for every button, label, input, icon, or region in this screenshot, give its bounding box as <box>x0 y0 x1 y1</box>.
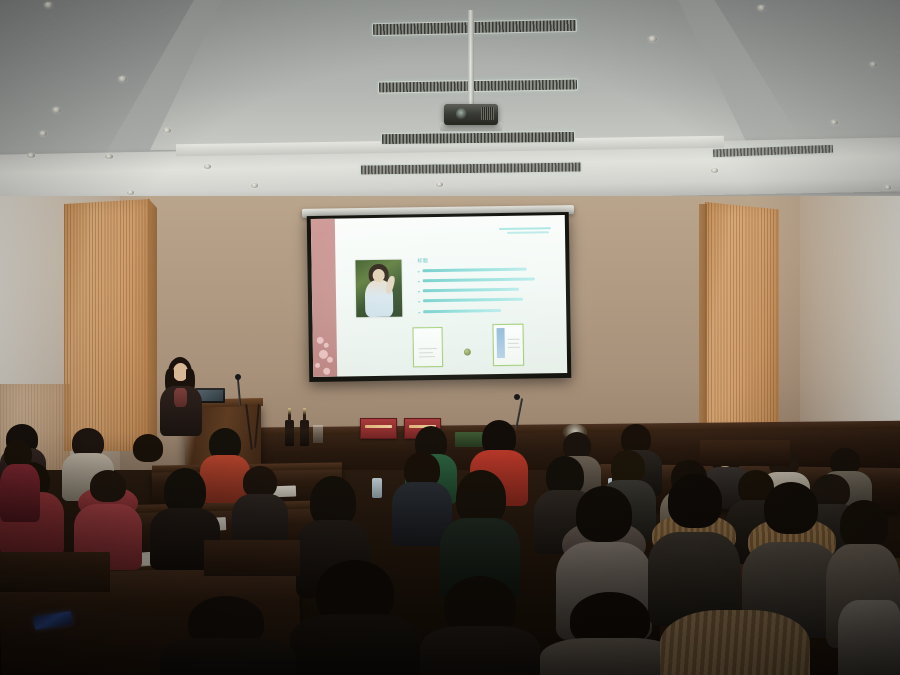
downlight-14 <box>830 120 838 125</box>
slide-bullet-1: 第一条要点文字内容 <box>418 267 548 275</box>
slide-title: 标题 <box>417 257 428 264</box>
water-bottle-3 <box>372 478 382 498</box>
downlight-16 <box>884 185 891 190</box>
downlight-13 <box>711 168 718 173</box>
wine-bottle-1 <box>285 420 294 446</box>
ceiling-vent-3 <box>381 131 575 145</box>
lecture-hall-photo: 演示文稿标题 人物照片 标题 第一条要点文字内容 第二条要点文字内容 第三条要点… <box>0 0 900 675</box>
head-table-microphone-head <box>514 394 520 400</box>
photo-face <box>373 269 385 282</box>
wood-panel-left-edge <box>148 198 157 448</box>
chair-back-2 <box>204 540 300 576</box>
downlight-17 <box>127 190 134 195</box>
slide-portrait-photo <box>355 260 402 318</box>
downlight-11 <box>648 36 657 42</box>
downlight-3 <box>52 107 61 113</box>
wood-wall-panel-right <box>705 202 779 450</box>
slide-header-text <box>495 227 553 238</box>
chair-back-1 <box>0 552 110 592</box>
downlight-9 <box>251 183 258 188</box>
wine-bottle-2-neck <box>303 408 306 421</box>
audience-person-31 <box>660 600 810 675</box>
slide-bullet-5: 第五条要点文字内容 <box>418 308 548 316</box>
presenter-scarf <box>174 388 187 407</box>
audience-person-34 <box>838 600 900 675</box>
downlight-8 <box>204 164 211 169</box>
presenter <box>158 357 204 435</box>
slide-bullet-3: 第三条要点文字内容 <box>418 287 548 295</box>
table-glassware <box>313 425 323 443</box>
audience-person-30 <box>540 592 680 675</box>
downlight-12 <box>757 5 766 11</box>
projector-lens-icon <box>456 108 468 120</box>
chair-back-3 <box>700 440 790 466</box>
downlight-10 <box>436 182 443 187</box>
downlight-1 <box>44 2 53 8</box>
slide-blossom-1 <box>317 337 324 344</box>
slide-blossom-5 <box>315 363 320 368</box>
downlight-15 <box>869 62 877 67</box>
slide-blossom-4 <box>327 357 333 363</box>
slide-bullet-2: 第二条要点文字内容 <box>418 277 548 285</box>
projector-mount-pole <box>468 10 474 106</box>
downlight-4 <box>39 131 47 136</box>
slide-certificate-1: 证书一 <box>412 327 443 367</box>
slide-bullet-4: 第四条要点文字内容 <box>418 297 548 305</box>
wood-wall-panel-left <box>64 199 150 451</box>
head-table-placard-1: 嘉宾席 <box>360 418 397 439</box>
audience-person-32 <box>160 596 296 675</box>
wine-bottle-2 <box>300 420 309 446</box>
slide-seal-icon <box>464 349 471 356</box>
projection-screen-surface[interactable]: 演示文稿标题 人物照片 标题 第一条要点文字内容 第二条要点文字内容 第三条要点… <box>311 215 567 377</box>
audience-person-33 <box>0 440 40 520</box>
downlight-2 <box>118 76 127 82</box>
audience-person-28 <box>290 560 420 675</box>
wood-panel-right-edge <box>699 204 707 449</box>
downlight-7 <box>163 128 171 133</box>
projector-vent-grill <box>481 107 494 120</box>
slide-certificate-2: 证书二 <box>492 324 524 366</box>
slide-side-band <box>311 219 337 377</box>
downlight-5 <box>27 153 35 158</box>
wine-bottle-1-neck <box>288 408 291 421</box>
slide-blossom-2 <box>324 343 329 348</box>
audience-person-29 <box>420 576 540 675</box>
downlight-6 <box>105 154 113 159</box>
slide-blossom-6 <box>323 368 330 375</box>
